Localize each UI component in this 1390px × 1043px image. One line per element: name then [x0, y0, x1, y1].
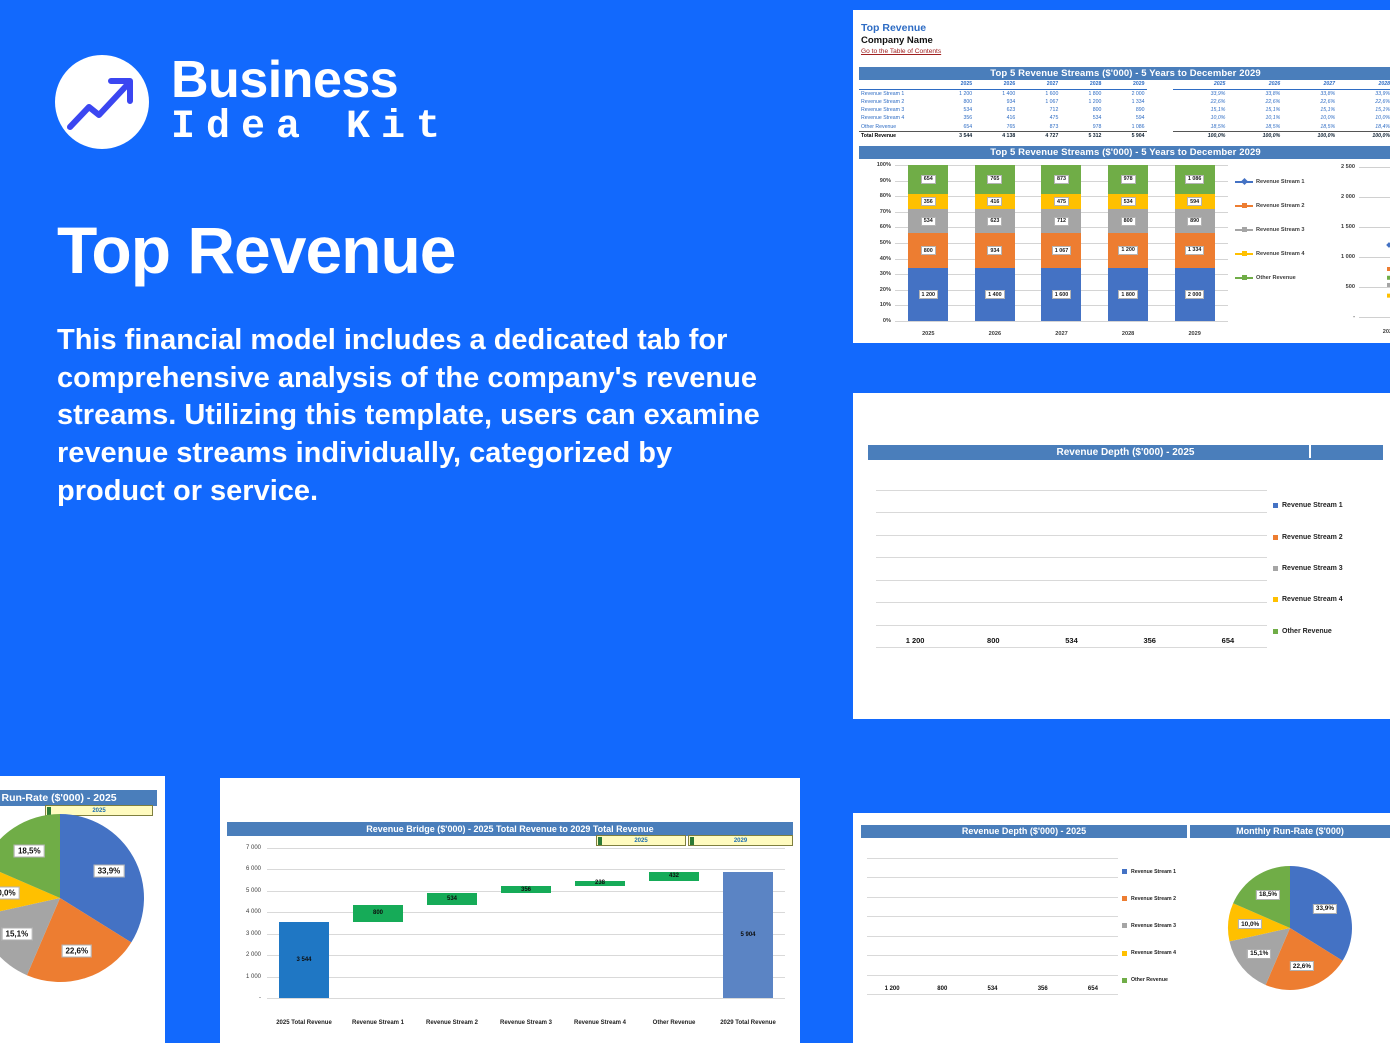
- pie-value-label: 18,5%: [1256, 890, 1280, 900]
- sheet-section-band: Top 5 Revenue Streams ($'000) - 5 Years …: [859, 67, 1390, 80]
- bar-segment: 712: [1041, 209, 1081, 232]
- x-axis-label: 2025 Total Revenue: [267, 1020, 341, 1026]
- bar-segment: 1 334: [1175, 233, 1215, 268]
- waterfall-column: 432: [637, 848, 711, 998]
- gridline: [1359, 317, 1390, 318]
- x-axis-label: Revenue Stream 3: [489, 1020, 563, 1026]
- y-axis-label: 5 000: [227, 888, 261, 894]
- bar-value-label: 654: [921, 175, 936, 184]
- bar-segment: 890: [1175, 209, 1215, 233]
- legend-label: Revenue Stream 1: [1256, 179, 1305, 185]
- bar-value-label: 1 200: [867, 986, 917, 992]
- brand-name-primary: Business: [171, 55, 451, 106]
- waterfall-bar: 3 544: [279, 922, 329, 998]
- x-axis: 20252026202720282029: [895, 331, 1228, 337]
- waterfall-bar: 800: [353, 905, 403, 922]
- bar-value-label: 800: [917, 986, 967, 992]
- legend-label: Other Revenue: [1282, 628, 1332, 635]
- y-axis-label: 80%: [859, 193, 891, 199]
- page-description: This financial model includes a dedicate…: [57, 322, 769, 510]
- run-rate-title-right: Monthly Run-Rate ($'000): [1190, 825, 1390, 838]
- legend-swatch: [1235, 181, 1253, 183]
- legend-item: Revenue Stream 1: [1122, 869, 1190, 875]
- bar-value-label: 2 000: [1185, 290, 1205, 299]
- pie-chart: [0, 806, 165, 1016]
- table-row: Revenue Stream 1 1 200 1 400 1 600 1 800…: [859, 89, 1390, 98]
- bar-segment: 1 400: [975, 268, 1015, 321]
- bar-segment: 623: [975, 209, 1015, 232]
- bar-segment: 1 200: [908, 268, 948, 321]
- page-title: Top Revenue: [57, 212, 456, 288]
- x-axis-label: 2025: [1383, 329, 1390, 335]
- legend-item: Other Revenue: [1273, 628, 1381, 635]
- bar-value-label: 1 334: [1185, 246, 1205, 255]
- waterfall-bar: 238: [575, 881, 625, 886]
- brand-logo: Business Idea Kit: [55, 55, 451, 150]
- bar-value-label: 873: [1054, 175, 1069, 184]
- pie-value-label: 10,0%: [0, 886, 20, 899]
- y-axis-label: 20%: [859, 287, 891, 293]
- legend-label: Other Revenue: [1256, 275, 1296, 281]
- legend-label: Revenue Stream 4: [1131, 950, 1176, 956]
- pie-value-label: 22,6%: [1290, 961, 1314, 971]
- legend-item: Revenue Stream 1: [1235, 179, 1321, 185]
- y-axis-label: 90%: [859, 178, 891, 184]
- bar-segment: 654: [908, 165, 948, 194]
- bar-value-label: 416: [987, 197, 1002, 206]
- legend-swatch: [1273, 566, 1278, 571]
- bar-segment: 416: [975, 194, 1015, 210]
- table-header-row: 2025 2026 2027 2028 2029 2025 2026 2027 …: [859, 80, 1390, 90]
- legend-label: Revenue Stream 3: [1282, 565, 1343, 572]
- waterfall-column: 5 904: [711, 848, 785, 998]
- waterfall-column: 534: [415, 848, 489, 998]
- y-axis-label: 60%: [859, 224, 891, 230]
- legend-swatch: [1273, 597, 1278, 602]
- legend-swatch: [1122, 869, 1127, 874]
- legend-label: Revenue Stream 2: [1282, 534, 1343, 541]
- pie-value-label: 33,9%: [1313, 904, 1337, 914]
- y-axis-label: 30%: [859, 271, 891, 277]
- legend-swatch: [1235, 253, 1253, 255]
- bar-segment: 1 086: [1175, 165, 1215, 194]
- monthly-run-rate-card-left: Monthly Run-Rate ($'000) - 2025 2025 33,…: [0, 776, 165, 1043]
- waterfall-column: 800: [341, 848, 415, 998]
- waterfall-bar: 534: [427, 893, 477, 904]
- legend-swatch: [1235, 277, 1253, 279]
- revenue-depth-title-small: Revenue Depth ($'000) - 2025: [861, 825, 1187, 838]
- bar-value-label: 623: [987, 217, 1002, 226]
- bar-segment: 1 600: [1041, 268, 1081, 321]
- legend-swatch: [1122, 896, 1127, 901]
- legend-swatch: [1273, 535, 1278, 540]
- legend-label: Other Revenue: [1131, 977, 1168, 983]
- stacked-column: 8734757121 0671 600: [1041, 165, 1081, 321]
- bar-segment: 800: [908, 233, 948, 268]
- bar-value-label: 238: [595, 880, 605, 886]
- pie-value-label: 15,1%: [1247, 949, 1271, 959]
- run-rate-pie-right: 33,9%22,6%15,1%10,0%18,5%: [1190, 838, 1390, 1018]
- plot-area: 1 200800534356654: [867, 858, 1118, 994]
- bar-value-label: 432: [669, 873, 679, 879]
- x-axis-label: Other Revenue: [637, 1020, 711, 1026]
- revenue-bridge-chart: -1 0002 0003 0004 0005 0006 0007 0003 54…: [227, 840, 793, 1030]
- waterfall-bar: 432: [649, 872, 699, 881]
- bar-value-label: 800: [954, 636, 1032, 645]
- table-row: Revenue Stream 3 534 623 712 800 890 15,…: [859, 106, 1390, 114]
- legend-label: Revenue Stream 2: [1131, 896, 1176, 902]
- x-axis-label: Revenue Stream 4: [563, 1020, 637, 1026]
- bar-value-label: 1 200: [919, 290, 939, 299]
- bar-value-label: 1 400: [985, 290, 1005, 299]
- spreadsheet-card: Top Revenue Company Name Go to the Table…: [853, 10, 1390, 343]
- legend-item: Revenue Stream 3: [1122, 923, 1190, 929]
- legend-swatch: [1122, 978, 1127, 983]
- bar-value-label: 1 600: [1052, 290, 1072, 299]
- y-axis-label: 2 000: [227, 952, 261, 958]
- bar-segment: 765: [975, 165, 1015, 194]
- legend-item: Revenue Stream 1: [1273, 502, 1381, 509]
- revenue-bridge-card: Revenue Bridge ($'000) - 2025 Total Reve…: [220, 778, 800, 1043]
- bar-segment: 934: [975, 233, 1015, 268]
- chart-legend: Revenue Stream 1Revenue Stream 2Revenue …: [1122, 858, 1190, 994]
- legend-item: Revenue Stream 4: [1235, 251, 1321, 257]
- legend-swatch: [1122, 951, 1127, 956]
- bar-segment: 800: [1108, 209, 1148, 232]
- brand-name-secondary: Idea Kit: [171, 106, 451, 150]
- sheet-title: Top Revenue: [861, 22, 1390, 35]
- bar-segment: 356: [908, 194, 948, 210]
- legend-item: Revenue Stream 3: [1273, 565, 1381, 572]
- gridline: [895, 321, 1228, 322]
- bar-value-label: 1 067: [1052, 246, 1072, 255]
- y-axis-label: 3 000: [227, 931, 261, 937]
- bar-value-label: 5 904: [740, 932, 755, 938]
- y-axis-label: 10%: [859, 302, 891, 308]
- x-axis-label: Revenue Stream 1: [341, 1020, 415, 1026]
- stacked-column: 7654166239341 400: [975, 165, 1015, 321]
- pie-value-label: 15,1%: [2, 927, 33, 940]
- bar-value-label: 534: [967, 986, 1017, 992]
- bar-value-label: 594: [1187, 197, 1202, 206]
- bar-value-label: 890: [1187, 217, 1202, 226]
- pie-value-label: 10,0%: [1238, 919, 1262, 929]
- chart-legend: Revenue Stream 1Revenue Stream 2Revenue …: [1273, 490, 1381, 647]
- y-axis-label: 7 000: [227, 845, 261, 851]
- bar-segment: 475: [1041, 194, 1081, 210]
- legend-label: Revenue Stream 3: [1131, 923, 1176, 929]
- bar-segment: 594: [1175, 194, 1215, 210]
- trend-line-chart: Revenue Stream 1Revenue Stream 2Revenue …: [1231, 159, 1390, 339]
- pie-chart: [1190, 838, 1390, 1043]
- bar-value-label: 534: [1032, 636, 1110, 645]
- legend-label: Revenue Stream 4: [1256, 251, 1305, 257]
- bar-value-label: 654: [1068, 986, 1118, 992]
- y-axis-label: 40%: [859, 256, 891, 262]
- table-row: Revenue Stream 4 356 416 475 534 594 10,…: [859, 114, 1390, 122]
- bar-value-label: 356: [1018, 986, 1068, 992]
- y-axis-label: 500: [1325, 284, 1355, 290]
- stacked-bar-chart: 0%10%20%30%40%50%60%70%80%90%100%6543565…: [859, 159, 1231, 339]
- waterfall-column: 238: [563, 848, 637, 998]
- x-axis-label: 2027: [1041, 331, 1081, 337]
- bar-value-label: 654: [1189, 636, 1267, 645]
- bar-value-label: 475: [1054, 197, 1069, 206]
- legend-item: Revenue Stream 4: [1273, 596, 1381, 603]
- legend-item: Revenue Stream 2: [1122, 896, 1190, 902]
- bar-segment: 1 800: [1108, 268, 1148, 321]
- x-axis-label: 2029 Total Revenue: [711, 1020, 785, 1026]
- pie-value-label: 33,9%: [94, 864, 125, 877]
- bar-value-label: 800: [373, 910, 383, 916]
- legend-swatch: [1122, 923, 1127, 928]
- y-axis-label: -: [227, 995, 261, 1001]
- bar-value-label: 800: [1121, 217, 1136, 226]
- legend-swatch: [1235, 229, 1253, 231]
- table-total-row: Total Revenue 3 544 4 138 4 727 5 312 5 …: [859, 131, 1390, 140]
- revenue-bridge-title: Revenue Bridge ($'000) - 2025 Total Reve…: [227, 822, 793, 836]
- bar-segment: 1 067: [1041, 233, 1081, 268]
- bar-segment: 1 200: [1108, 233, 1148, 268]
- waterfall-bar: 5 904: [723, 872, 773, 999]
- bar-value-label: 534: [1121, 197, 1136, 206]
- legend-item: Revenue Stream 3: [1235, 227, 1321, 233]
- bar-value-label: 356: [521, 887, 531, 893]
- bar-segment: 2 000: [1175, 268, 1215, 321]
- x-axis-label: Revenue Stream 2: [415, 1020, 489, 1026]
- legend-swatch: [1273, 629, 1278, 634]
- bar-value-label: 356: [921, 197, 936, 206]
- y-axis-label: 1 000: [1325, 254, 1355, 260]
- bar-value-label: 800: [921, 246, 936, 255]
- revenue-depth-card: Revenue Depth ($'000) - 2025 1 200800534…: [853, 393, 1390, 719]
- chart-section-band: Top 5 Revenue Streams ($'000) - 5 Years …: [859, 146, 1390, 159]
- legend-item: Revenue Stream 4: [1122, 950, 1190, 956]
- bar-value-label: 3 544: [296, 957, 311, 963]
- legend-label: Revenue Stream 4: [1282, 596, 1343, 603]
- waterfall-column: 356: [489, 848, 563, 998]
- line-series-area: [1359, 167, 1390, 317]
- legend-item: Other Revenue: [1235, 275, 1321, 281]
- bar-value-label: 934: [987, 246, 1002, 255]
- y-axis-label: 1 000: [227, 974, 261, 980]
- legend-item: Other Revenue: [1122, 977, 1190, 983]
- x-axis-label: 2025: [908, 331, 948, 337]
- y-axis-label: 100%: [859, 162, 891, 168]
- y-axis-label: 2 500: [1325, 164, 1355, 170]
- table-of-contents-link[interactable]: Go to the Table of Contents: [861, 47, 1390, 57]
- y-axis-label: 2 000: [1325, 194, 1355, 200]
- pie-value-label: 22,6%: [61, 945, 92, 958]
- x-axis: 2025 Total RevenueRevenue Stream 1Revenu…: [267, 1020, 785, 1026]
- legend-item: Revenue Stream 2: [1273, 534, 1381, 541]
- trending-up-arrow-icon: [55, 55, 149, 149]
- waterfall-column: 3 544: [267, 848, 341, 998]
- stacked-column: 6543565348001 200: [908, 165, 948, 321]
- bar-value-label: 534: [921, 217, 936, 226]
- x-axis-label: 2028: [1108, 331, 1148, 337]
- bar-value-label: 712: [1054, 217, 1069, 226]
- revenue-depth-chart-small: 1 200800534356654Revenue Stream 1Revenue…: [861, 838, 1190, 1018]
- revenue-depth-runrate-card: Revenue Depth ($'000) - 2025 Monthly Run…: [853, 813, 1390, 1043]
- bar-segment: 873: [1041, 165, 1081, 194]
- bar-value-label: 534: [447, 896, 457, 902]
- bar-segment: 978: [1108, 165, 1148, 194]
- y-axis-label: 6 000: [227, 866, 261, 872]
- stacked-column: 9785348001 2001 800: [1108, 165, 1148, 321]
- bar-value-label: 1 086: [1185, 175, 1205, 184]
- band-divider: [1309, 445, 1311, 458]
- y-axis-label: -: [1325, 314, 1355, 320]
- plot-area: 1 200800534356654: [876, 490, 1267, 647]
- legend-item: Revenue Stream 2: [1235, 203, 1321, 209]
- waterfall-bar: 356: [501, 886, 551, 894]
- y-axis-label: 1 500: [1325, 224, 1355, 230]
- run-rate-title-left: Monthly Run-Rate ($'000) - 2025: [0, 790, 157, 806]
- bar-value-label: 1 200: [1118, 246, 1138, 255]
- legend-label: Revenue Stream 3: [1256, 227, 1305, 233]
- legend-swatch: [1235, 205, 1253, 207]
- y-axis-label: 4 000: [227, 909, 261, 915]
- pie-value-label: 18,5%: [14, 845, 45, 858]
- table-row: Other Revenue 654 765 873 978 1 086 18,5…: [859, 123, 1390, 132]
- chart-legend: Revenue Stream 1Revenue Stream 2Revenue …: [1235, 179, 1321, 299]
- legend-label: Revenue Stream 1: [1282, 502, 1343, 509]
- y-axis-label: 0%: [859, 318, 891, 324]
- bar-value-label: 978: [1121, 175, 1136, 184]
- bar-segment: 534: [1108, 194, 1148, 210]
- bar-segment: 534: [908, 209, 948, 233]
- revenue-table: 2025 2026 2027 2028 2029 2025 2026 2027 …: [859, 80, 1390, 140]
- y-axis-label: 50%: [859, 240, 891, 246]
- x-axis-label: 2026: [975, 331, 1015, 337]
- gridline: [867, 994, 1118, 995]
- gridline: [267, 998, 785, 999]
- legend-label: Revenue Stream 1: [1131, 869, 1176, 875]
- revenue-depth-chart: 1 200800534356654Revenue Stream 1Revenue…: [868, 460, 1383, 675]
- run-rate-pie-left: 33,9%22,6%15,1%10,0%18,5%: [0, 806, 165, 1006]
- bar-value-label: 765: [987, 175, 1002, 184]
- bar-value-label: 1 200: [876, 636, 954, 645]
- bar-value-label: 356: [1111, 636, 1189, 645]
- revenue-depth-title: Revenue Depth ($'000) - 2025: [868, 445, 1383, 460]
- legend-label: Revenue Stream 2: [1256, 203, 1305, 209]
- y-axis-label: 70%: [859, 209, 891, 215]
- sheet-subtitle: Company Name: [861, 35, 1390, 47]
- x-axis-label: 2029: [1175, 331, 1215, 337]
- gridline: [876, 647, 1267, 648]
- bar-value-label: 1 800: [1118, 290, 1138, 299]
- table-row: Revenue Stream 2 800 934 1 067 1 200 1 3…: [859, 98, 1390, 106]
- stacked-column: 1 0865948901 3342 000: [1175, 165, 1215, 321]
- legend-swatch: [1273, 503, 1278, 508]
